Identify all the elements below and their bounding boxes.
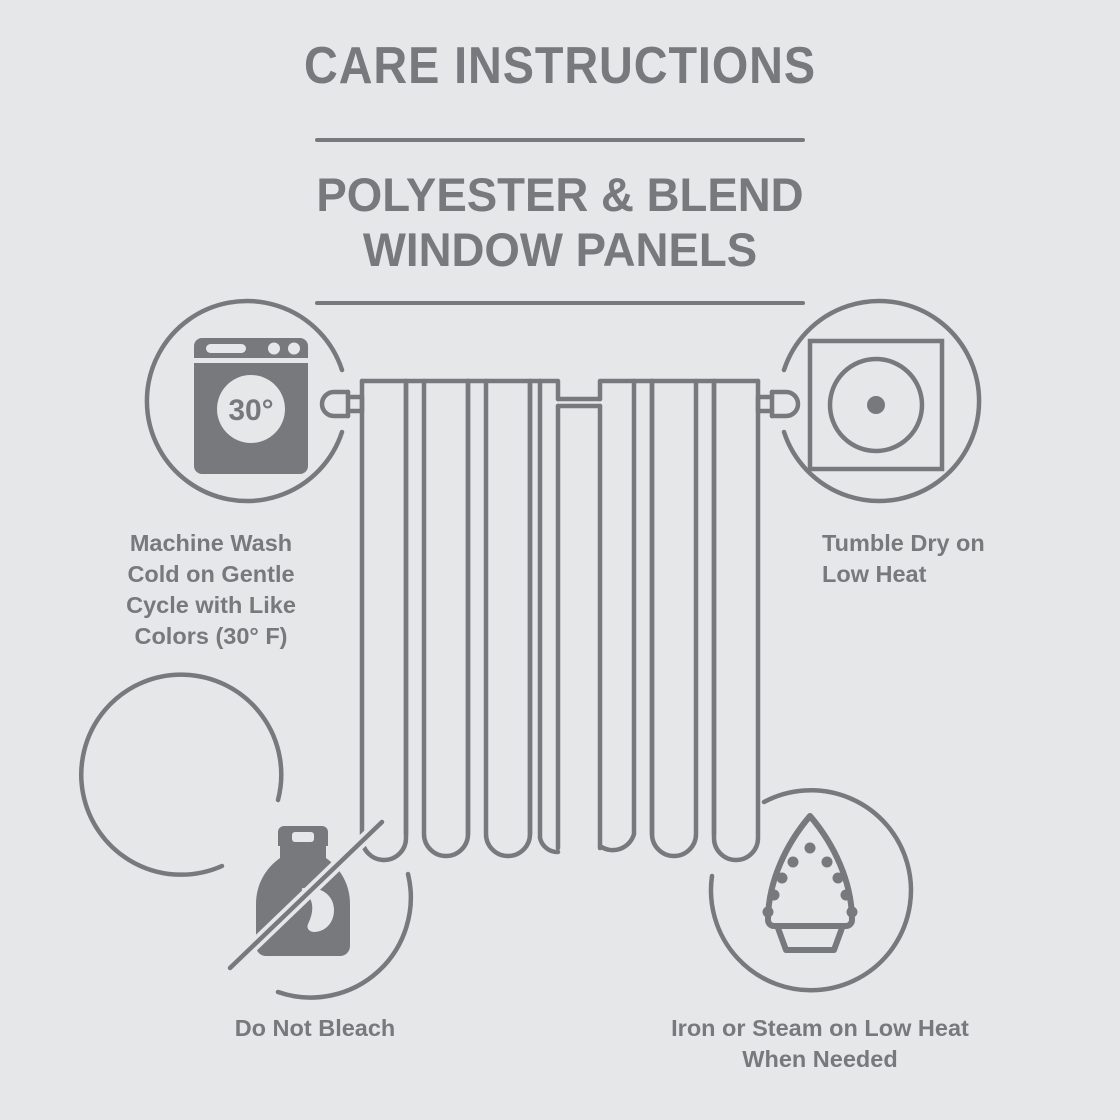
curtain-rod <box>558 399 600 406</box>
symbol-do-not-bleach <box>200 788 418 1004</box>
caption-machine-wash: Machine Wash Cold on Gentle Cycle with L… <box>66 528 356 652</box>
caption-do-not-bleach: Do Not Bleach <box>145 1013 485 1044</box>
caption-tumble-dry: Tumble Dry on Low Heat <box>822 528 1082 590</box>
dryer-heat-dot-icon <box>867 396 885 414</box>
caption-iron: Iron or Steam on Low Heat When Needed <box>610 1013 1030 1075</box>
wash-temperature-label: 30° <box>228 394 273 427</box>
care-instructions-infographic: CARE INSTRUCTIONS POLYESTER & BLEND WIND… <box>0 0 1120 1120</box>
symbol-machine-wash: 30° <box>146 296 356 506</box>
symbol-iron <box>700 788 920 1004</box>
iron-icon <box>763 816 858 950</box>
symbol-tumble-dry <box>770 296 982 506</box>
